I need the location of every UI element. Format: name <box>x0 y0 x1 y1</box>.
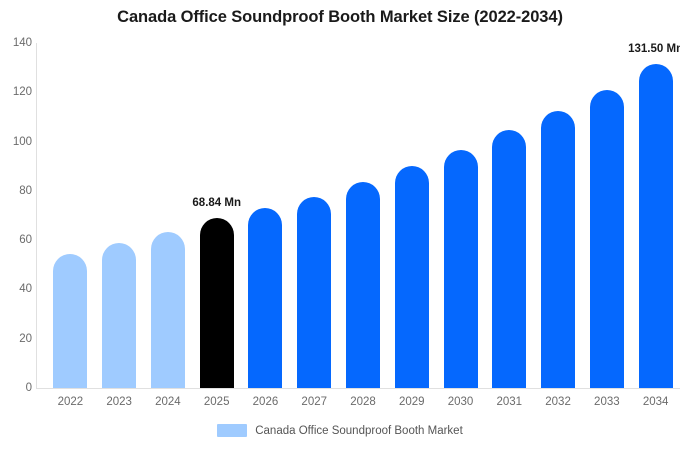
bar-slot <box>492 43 526 388</box>
bar-slot <box>444 43 478 388</box>
chart-legend: Canada Office Soundproof Booth Market <box>0 424 680 437</box>
chart-bar[interactable] <box>53 254 87 388</box>
x-axis-tick-label: 2026 <box>253 396 279 408</box>
plot-area <box>36 43 680 388</box>
y-axis-tick-label: 140 <box>2 37 32 49</box>
x-axis-tick-label: 2029 <box>399 396 425 408</box>
bar-slot <box>297 43 331 388</box>
bar-slot <box>248 43 282 388</box>
legend-label: Canada Office Soundproof Booth Market <box>255 425 463 437</box>
chart-bar[interactable] <box>297 197 331 388</box>
chart-bar[interactable] <box>492 130 526 388</box>
bar-slot <box>102 43 136 388</box>
x-axis-tick-label: 2028 <box>350 396 376 408</box>
bar-slot <box>541 43 575 388</box>
chart-bar[interactable] <box>590 90 624 388</box>
bar-slot <box>200 43 234 388</box>
chart-bar[interactable] <box>248 208 282 388</box>
x-axis-tick-label: 2032 <box>545 396 571 408</box>
y-axis-tick-label: 60 <box>2 234 32 246</box>
bar-slot <box>346 43 380 388</box>
bar-slot <box>639 43 673 388</box>
chart-bar[interactable] <box>346 182 380 388</box>
bar-slot <box>590 43 624 388</box>
x-axis-tick-label: 2030 <box>448 396 474 408</box>
y-axis-tick-label: 80 <box>2 185 32 197</box>
bar-slot <box>151 43 185 388</box>
x-axis-tick-label: 2033 <box>594 396 620 408</box>
chart-bar[interactable] <box>444 150 478 388</box>
bar-value-label: 68.84 Mn <box>192 197 241 209</box>
y-axis-tick-label: 40 <box>2 283 32 295</box>
bar-value-label: 131.50 Mn <box>628 43 680 55</box>
y-axis-tick-label: 20 <box>2 333 32 345</box>
chart-bar[interactable] <box>395 166 429 388</box>
y-axis-tick-labels: 020406080100120140 <box>0 0 32 450</box>
y-axis-tick-label: 120 <box>2 86 32 98</box>
chart-bar[interactable] <box>151 232 185 388</box>
chart-bar[interactable] <box>200 218 234 388</box>
bar-slot <box>53 43 87 388</box>
x-axis-tick-label: 2024 <box>155 396 181 408</box>
y-axis-tick-label: 0 <box>2 382 32 394</box>
x-axis-line <box>36 388 680 389</box>
bar-slot <box>395 43 429 388</box>
chart-bar[interactable] <box>102 243 136 388</box>
x-axis-tick-label: 2022 <box>58 396 84 408</box>
x-axis-tick-label: 2034 <box>643 396 669 408</box>
legend-swatch-icon <box>217 424 247 437</box>
x-axis-tick-label: 2025 <box>204 396 230 408</box>
chart-title: Canada Office Soundproof Booth Market Si… <box>0 8 680 27</box>
chart-bar[interactable] <box>639 64 673 388</box>
x-axis-tick-label: 2027 <box>301 396 327 408</box>
x-axis-tick-label: 2023 <box>106 396 132 408</box>
chart-bar[interactable] <box>541 111 575 388</box>
chart-container: Canada Office Soundproof Booth Market Si… <box>0 0 680 450</box>
y-axis-tick-label: 100 <box>2 136 32 148</box>
x-axis-tick-label: 2031 <box>497 396 523 408</box>
